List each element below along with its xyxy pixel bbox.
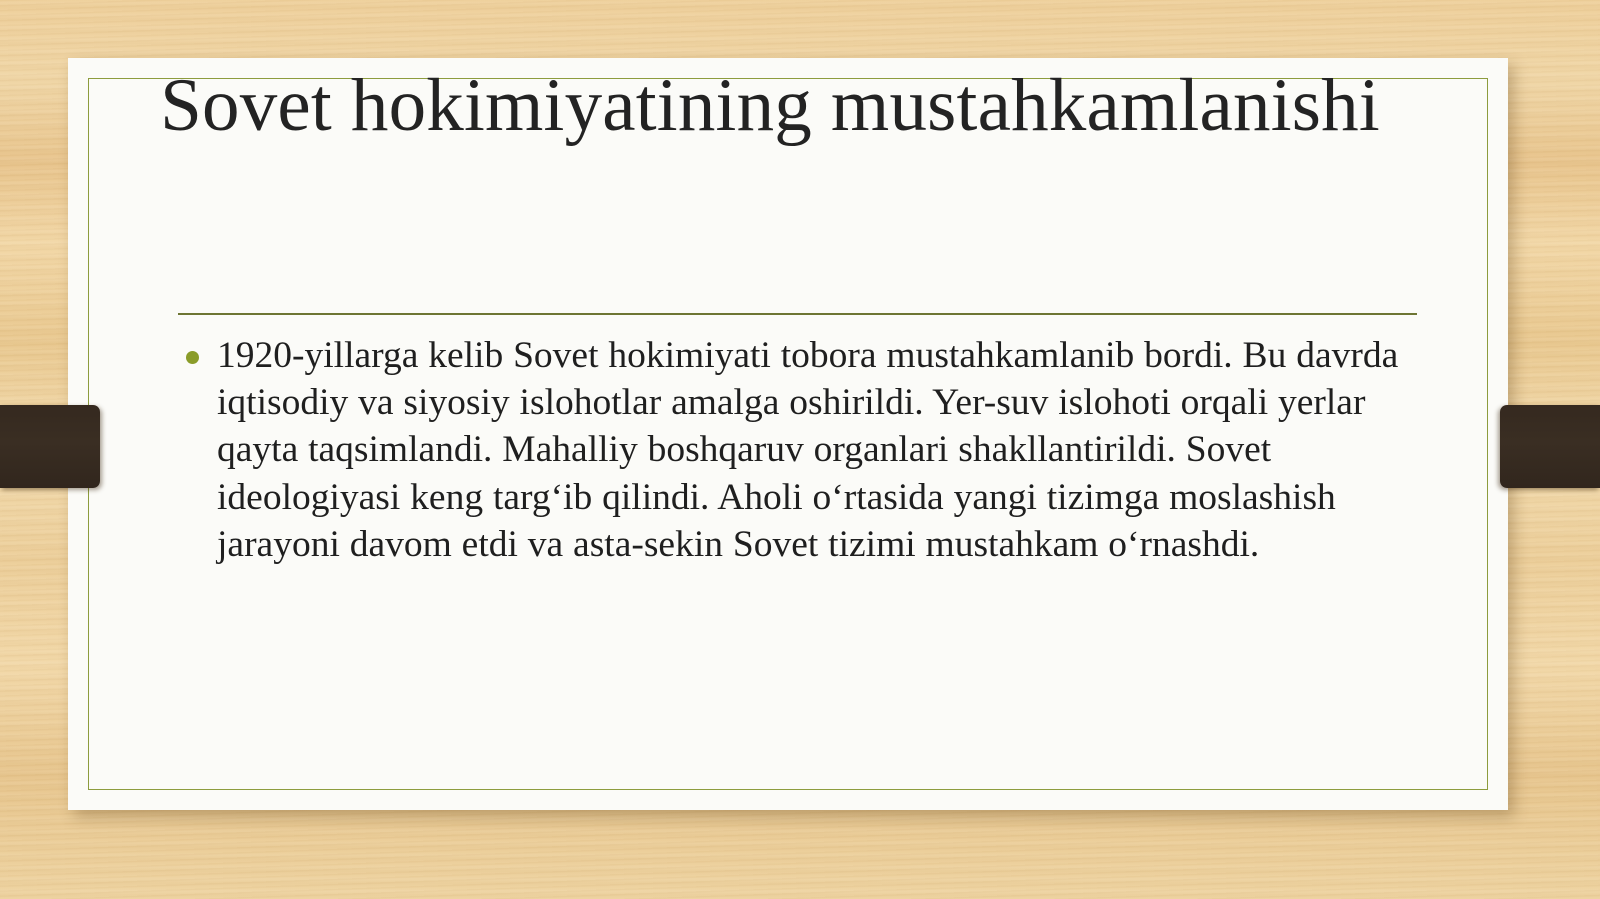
list-item-text: 1920-yillarga kelib Sovet hokimiyati tob… (217, 332, 1423, 568)
right-decorative-tab (1500, 405, 1600, 488)
title-underline-rule (178, 313, 1417, 315)
bullet-dot-icon (186, 351, 199, 364)
page-title: Sovet hokimiyatining mustahkamlanishi (110, 62, 1430, 149)
slide-body: 1920-yillarga kelib Sovet hokimiyati tob… (178, 332, 1423, 568)
slide-background: Sovet hokimiyatining mustahkamlanishi 19… (0, 0, 1600, 899)
list-item: 1920-yillarga kelib Sovet hokimiyati tob… (178, 332, 1423, 568)
slide-title-block: Sovet hokimiyatining mustahkamlanishi (110, 62, 1430, 149)
left-decorative-tab (0, 405, 100, 488)
